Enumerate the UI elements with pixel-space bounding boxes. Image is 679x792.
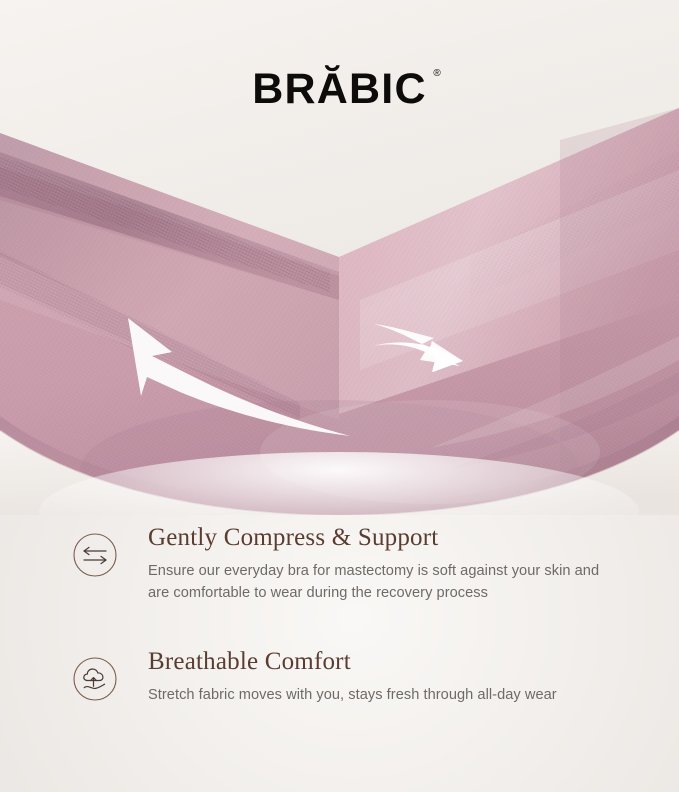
brand-logo: BRĂBIC® <box>0 68 679 111</box>
brand-name: BRĂBIC <box>252 65 426 113</box>
feature-text-block: Gently Compress & Support Ensure our eve… <box>148 524 645 604</box>
product-feature-page: BRĂBIC® Gently Compress & Support Ensure… <box>0 0 679 792</box>
feature-title: Breathable Comfort <box>148 648 645 677</box>
feature-text-block: Breathable Comfort Stretch fabric moves … <box>148 648 645 706</box>
feature-item-compress-support: Gently Compress & Support Ensure our eve… <box>0 524 679 604</box>
feature-list: Gently Compress & Support Ensure our eve… <box>0 524 679 720</box>
bidirectional-arrows-icon <box>72 532 118 578</box>
feature-description: Stretch fabric moves with you, stays fre… <box>148 684 618 706</box>
breathable-cloud-icon <box>72 656 118 702</box>
feature-title: Gently Compress & Support <box>148 524 645 553</box>
feature-item-breathable: Breathable Comfort Stretch fabric moves … <box>0 648 679 706</box>
feature-description: Ensure our everyday bra for mastectomy i… <box>148 560 618 604</box>
brand-name-wrap: BRĂBIC® <box>252 68 426 111</box>
registered-trademark-icon: ® <box>433 69 440 79</box>
